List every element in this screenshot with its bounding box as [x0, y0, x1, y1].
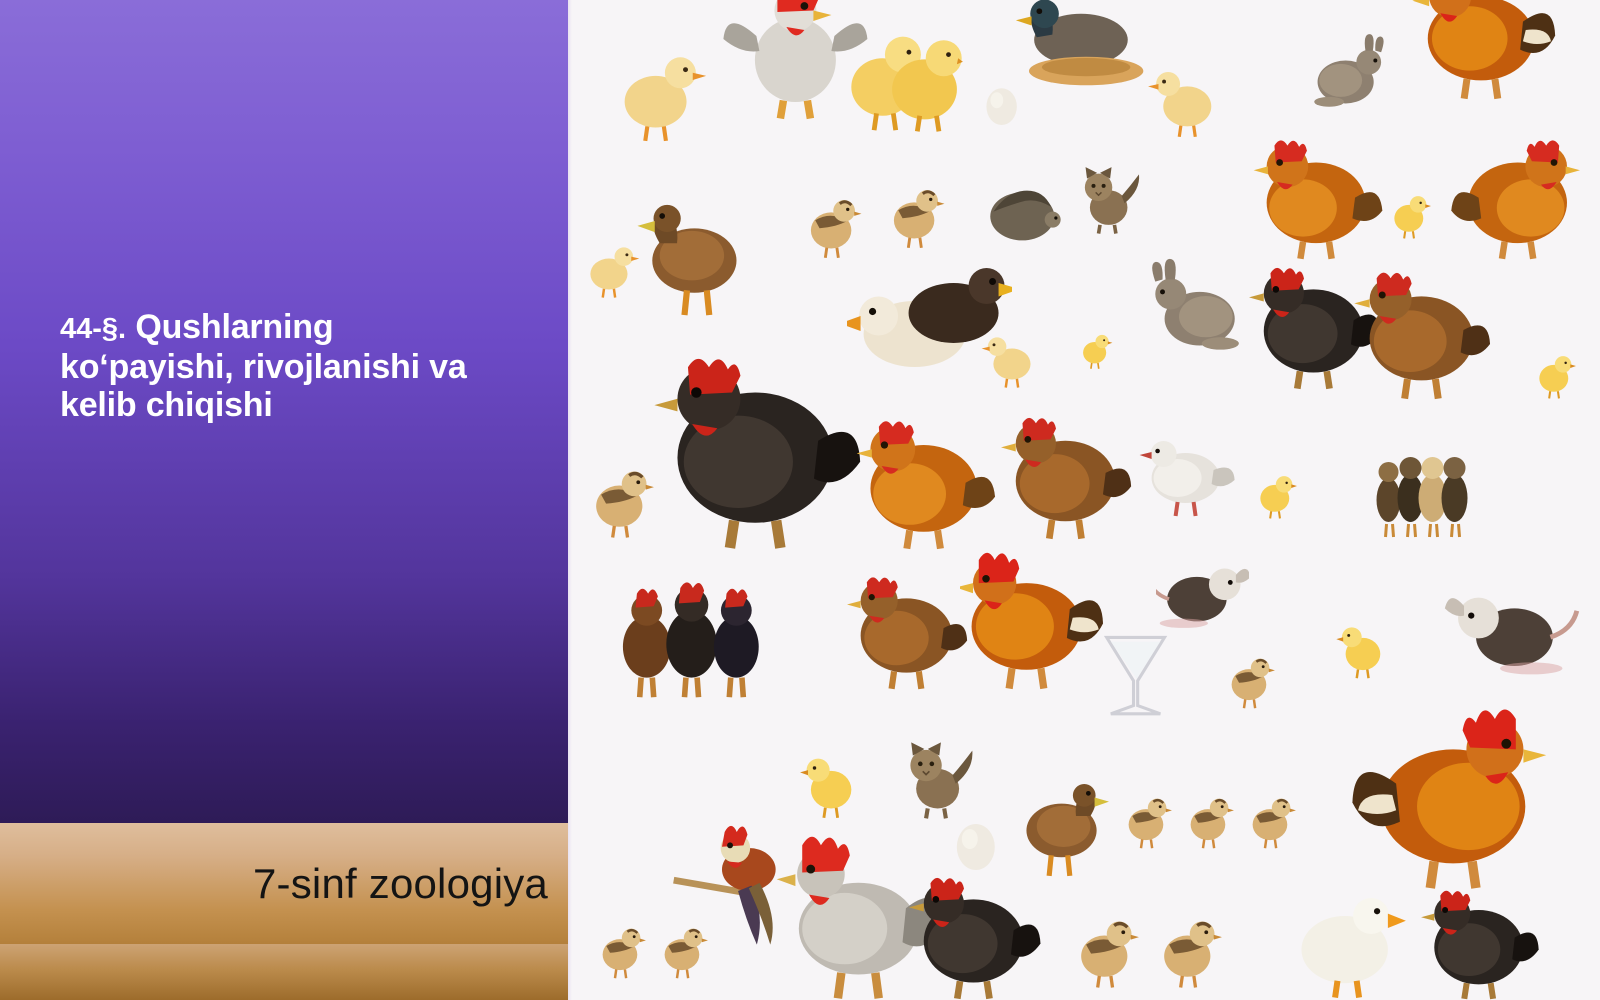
chick-tiny-center	[1074, 310, 1115, 370]
rat-large-right	[1435, 570, 1579, 690]
title-line-1: 44-§. Qushlarning	[60, 308, 660, 348]
photo-collage-panel	[568, 0, 1600, 1000]
rooster-orange-mid	[960, 540, 1104, 690]
chick-bottom-3	[1063, 890, 1146, 990]
chick-bottom-2	[651, 900, 713, 980]
chick-small-mid	[1383, 170, 1435, 240]
chick-fluffy-2	[878, 160, 950, 250]
rabbit-grey	[1306, 15, 1389, 115]
hen-black-bottom	[909, 860, 1043, 1000]
hen-brown-right	[1352, 260, 1496, 400]
chick-brown-low	[1218, 630, 1280, 710]
chick-yellow-b1	[795, 740, 867, 820]
pigeon-white	[1136, 420, 1239, 520]
duck-on-nest	[1001, 0, 1166, 110]
chick-row-2	[1177, 770, 1239, 850]
chick-group-five	[1311, 440, 1538, 540]
subtitle-band-lower	[0, 944, 568, 1000]
hen-orange-mid	[1249, 130, 1393, 260]
chick-yellow-right	[1332, 600, 1394, 680]
duck-brown	[630, 190, 754, 320]
chick-row-3	[1239, 770, 1301, 850]
hen-brown-sit	[847, 560, 971, 690]
kitten-tabby	[898, 730, 981, 820]
chick-dark-left	[578, 440, 661, 540]
title-line-1-text: Qushlarning	[126, 308, 333, 346]
title-line-2: ko‘payishi, rivojlanishi va	[60, 348, 660, 386]
hen-dark-bottom	[1414, 880, 1548, 1000]
hedgehog	[981, 170, 1064, 250]
chick-row-1	[1115, 770, 1177, 850]
chick-fluffy-1	[795, 170, 867, 260]
hen-orange-right	[1435, 130, 1590, 260]
duckling-center	[981, 310, 1043, 390]
hen-black-large	[651, 340, 868, 550]
section-number: 44-§.	[60, 313, 126, 345]
duck-tall-brown	[1012, 720, 1115, 880]
chick-bottom-1	[589, 900, 651, 980]
page-title: 44-§. Qushlarning ko‘payishi, rivojlanis…	[60, 308, 660, 424]
duckling	[604, 15, 707, 145]
duckling-small	[1146, 60, 1229, 140]
slide-subtitle: 7-sinf zoologiya	[0, 823, 548, 944]
chick-bottom-4	[1146, 890, 1229, 990]
duck-white-bottom	[1280, 880, 1414, 1000]
egg-white	[981, 85, 1022, 125]
rat-grey	[1156, 520, 1249, 640]
animal-collage	[568, 0, 1600, 1000]
title-line-3: kelib chiqishi	[60, 386, 660, 424]
chick-pair-yellow	[841, 15, 965, 135]
rooster-orange-big	[1332, 700, 1559, 890]
hen-brown-mid	[1001, 400, 1135, 540]
rooster-orange-top	[1404, 0, 1569, 100]
hen-orange-wings	[857, 410, 1001, 550]
rabbit-brown	[1146, 250, 1249, 360]
kitten-orange	[1074, 145, 1146, 235]
hen-trio-left	[578, 560, 805, 700]
presentation-slide: 44-§. Qushlarning ko‘payishi, rivojlanis…	[0, 0, 1600, 1000]
chick-yellow-mid	[1249, 450, 1301, 520]
chick-right-edge	[1528, 330, 1580, 400]
